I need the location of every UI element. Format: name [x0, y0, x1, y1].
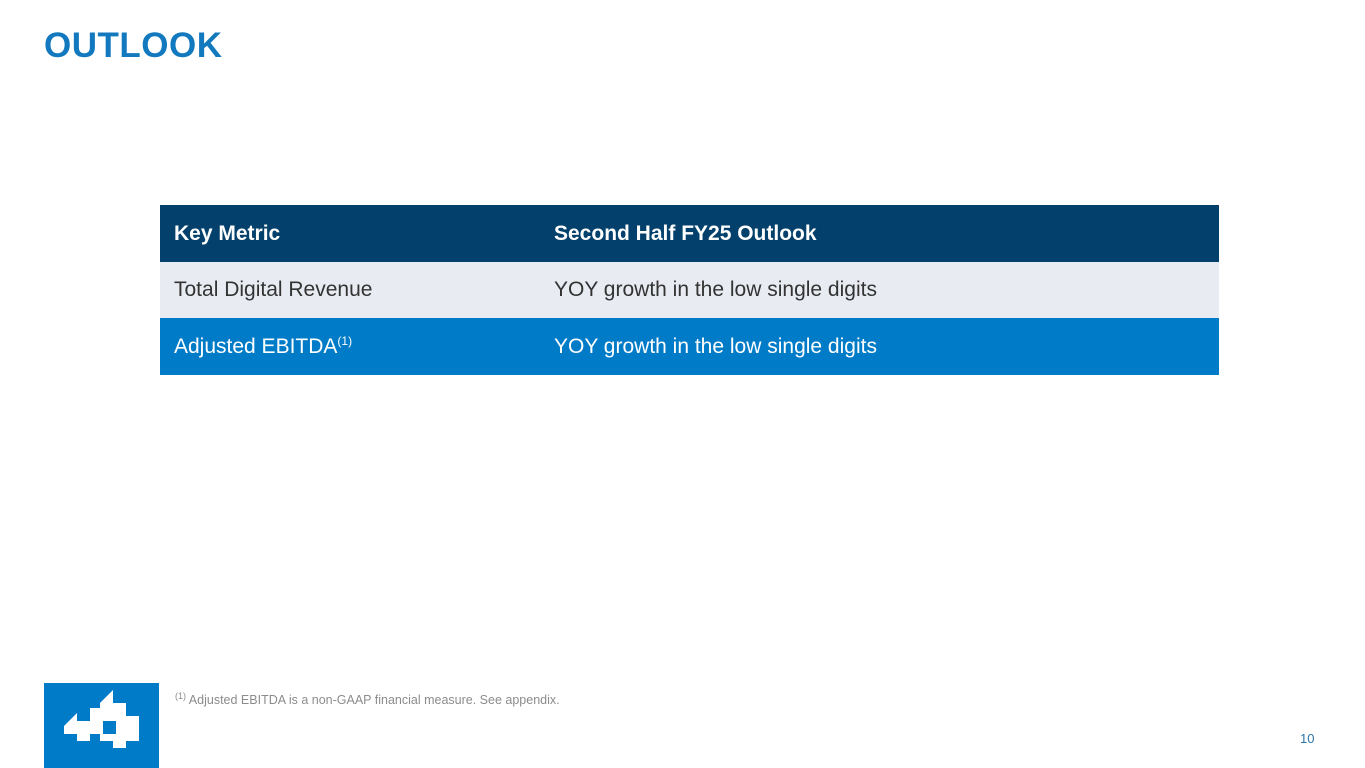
table-row: Total Digital Revenue YOY growth in the … [160, 262, 1219, 318]
cell-outlook-value: YOY growth in the low single digits [554, 262, 1219, 318]
cell-outlook-value: YOY growth in the low single digits [554, 318, 1219, 375]
page-title: OUTLOOK [44, 24, 222, 68]
metric-label: Total Digital Revenue [174, 278, 372, 301]
metric-label: Adjusted EBITDA [174, 335, 337, 358]
footnote: (1) Adjusted EBITDA is a non-GAAP financ… [175, 692, 560, 708]
page-number: 10 [1300, 731, 1330, 746]
column-header-key-metric: Key Metric [160, 205, 554, 262]
logo-mark-icon [44, 683, 159, 768]
cell-metric-name: Total Digital Revenue [160, 262, 554, 318]
footnote-marker: (1) [175, 691, 186, 701]
column-header-second-half-outlook: Second Half FY25 Outlook [554, 205, 1219, 262]
outlook-table: Key Metric Second Half FY25 Outlook Tota… [160, 205, 1219, 375]
cell-metric-name: Adjusted EBITDA(1) [160, 318, 554, 375]
company-logo [44, 683, 159, 768]
metric-footnote-marker: (1) [337, 334, 352, 348]
table-body: Total Digital Revenue YOY growth in the … [160, 262, 1219, 375]
table-row: Adjusted EBITDA(1) YOY growth in the low… [160, 318, 1219, 375]
footnote-text: Adjusted EBITDA is a non-GAAP financial … [189, 693, 560, 707]
table-header: Key Metric Second Half FY25 Outlook [160, 205, 1219, 262]
table-header-row: Key Metric Second Half FY25 Outlook [160, 205, 1219, 262]
